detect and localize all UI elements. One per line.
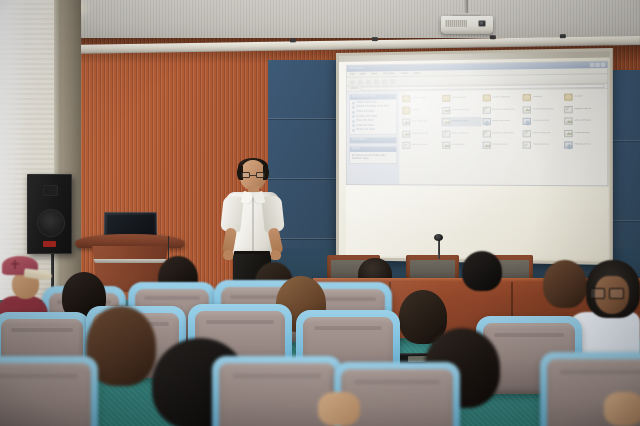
file-item-label: Feedback Form [574,144,591,147]
back-icon[interactable] [350,79,355,84]
gooseneck-microphone [434,234,443,241]
window-controls [590,63,605,67]
doc-icon [442,130,450,137]
projector-lens-icon [478,20,486,27]
file-item[interactable]: Summary Notes.doc [481,129,522,138]
menu-view[interactable]: View [371,72,377,75]
file-item[interactable]: Feedback Form [563,140,605,149]
ceiling-texture [0,0,640,42]
microphone-stem [438,239,440,259]
pa-speaker [27,174,72,254]
explorer-body: File and Folder Tasks Make a new folder … [347,89,607,186]
folders-icon[interactable] [382,79,387,84]
app-icon [564,141,573,148]
task-link[interactable]: Copy this folder [352,124,394,127]
folder-icon [523,94,531,101]
task-link[interactable]: Share this folder [352,110,394,113]
explorer-title: File Explorer [349,67,364,70]
file-item[interactable]: Intro Slides.ppt [401,117,441,126]
menu-edit[interactable]: Edit [360,73,365,76]
task-link-label: Delete this folder [356,129,375,132]
ceiling [0,0,640,42]
file-item[interactable]: Final Draft.ppt [563,128,605,138]
task-link[interactable]: Publish this folder to the Web [352,106,394,109]
speaker-woofer-icon [37,209,65,237]
close-icon[interactable] [601,63,605,67]
glasses-lens-left [241,172,250,178]
lectern-trim-band [92,259,168,263]
address-label: Address [350,88,359,91]
laptop-screen [107,215,154,234]
file-item[interactable]: Reference List [481,140,522,149]
file-item-label: Summary Notes.doc [492,132,514,135]
doc-icon [402,142,410,149]
task-link-label: Make a new folder [356,101,377,104]
forward-icon[interactable] [358,79,363,84]
app-icon [523,118,531,125]
task-section-other-places: Other Places [349,136,397,143]
file-item-label: Lecture Notes [412,97,427,100]
image-icon [402,130,410,137]
glasses-icon [590,288,624,299]
file-item-label: Project Brief.ppt [412,132,429,135]
bullet-icon [352,101,355,104]
image-icon [564,117,573,124]
image-icon [442,118,450,125]
glasses-lens-right [609,288,624,299]
folder-icon [402,95,410,102]
attendee-arm [318,392,360,426]
glasses-lens-left [590,288,605,299]
image-icon [442,142,450,149]
wall-pillar [61,0,81,302]
file-item-label: Appendix A.doc [412,144,428,147]
glasses-lens-right [256,172,265,178]
file-item-label: Budget Plan.xls [574,107,591,110]
screen-empty-area [346,185,609,260]
doc-icon [523,142,531,149]
file-item[interactable]: Project Brief.ppt [401,129,441,138]
explorer-task-pane: File and Folder Tasks Make a new folder … [347,91,399,186]
file-item[interactable]: Photos [401,106,441,115]
file-item[interactable]: Presentations [441,93,481,103]
bullet-icon [352,115,355,118]
file-item[interactable]: Workshop Report.doc [481,105,522,115]
speaker-tweeter-icon [43,185,58,196]
folder-icon [482,94,490,101]
doc-icon [482,130,490,137]
task-section-file-folder: File and Folder Tasks Make a new folder … [349,93,397,134]
file-item-label: Research [533,96,543,99]
file-item[interactable]: Appendix A.doc [401,141,441,150]
seat-pad [219,363,335,426]
file-item-label: Reference List [492,144,508,147]
file-item-label: Photos [412,109,419,112]
file-item[interactable]: Training Kit.exe [522,116,563,126]
task-link[interactable]: Delete this folder [352,129,394,132]
file-item[interactable]: Setup Guide.exe [481,117,522,127]
search-icon[interactable] [374,79,379,84]
folder-icon [564,93,573,100]
file-item[interactable]: Overview Chart [441,117,481,126]
task-links: Make a new folder Publish this folder to… [350,99,396,133]
file-item[interactable]: Field Survey.doc [441,129,481,138]
app-icon [482,118,490,125]
file-item-label: Workshop Report.doc [492,108,515,111]
file-item-label: Field Survey.doc [451,132,469,135]
file-item[interactable]: Attendance.xls [522,140,563,149]
task-link-label: Share this folder [356,111,374,114]
lecture-hall-photo: File Explorer File Edit View Favorites T… [0,0,640,426]
attendee-head [543,260,587,308]
doc-icon [523,130,531,137]
file-item[interactable]: Annual Meeting.ppt [522,105,563,115]
file-item[interactable]: Team Roster.xls [522,128,563,137]
projector-body-lower [443,29,491,34]
presenter-hand-right [270,250,281,260]
seat-pad [0,363,91,426]
file-item[interactable]: Course Materials [481,93,522,103]
task-link[interactable]: Move this folder [352,120,394,123]
task-link-label: Copy this folder [356,125,373,128]
task-section-details: Details My Documents File Folder Date Mo… [349,145,397,163]
file-item-label: Overview Chart [451,120,467,123]
file-item-label: Annual Meeting.ppt [533,108,554,111]
image-icon [564,129,573,136]
task-link[interactable]: Make a new folder [352,101,394,104]
glasses-icon [241,172,265,178]
up-icon[interactable] [366,79,371,84]
image-icon [482,142,490,149]
file-item[interactable]: Data Sheet.ppt [563,116,605,126]
file-item[interactable]: Lecture Notes [401,94,441,104]
speaker-stand [51,250,54,290]
screen-surface: File Explorer File Edit View Favorites T… [339,51,610,262]
audience-seat[interactable] [0,356,98,426]
presenter-shirt-placket [252,198,254,252]
task-link[interactable]: Rename this folder [352,115,394,118]
file-item-label: Intro Slides.ppt [412,120,428,123]
menu-file[interactable]: File [350,73,355,76]
file-item-label: Presentations [451,97,466,100]
file-item-label: Team Roster.xls [533,132,550,135]
projector-vent [445,20,467,27]
views-icon[interactable] [390,79,395,84]
image-icon [523,106,531,113]
attendee-arm [604,392,640,426]
speaker-brand-badge [43,241,56,247]
task-link-label: Move this folder [356,120,374,123]
doc-icon [564,105,573,112]
task-link-label: Publish this folder to the Web [356,106,389,109]
file-item-label: Schedule.ppt [451,144,465,147]
menu-favorites[interactable]: Favorites [383,72,395,75]
file-item-label: Data Sheet.ppt [574,119,591,122]
file-item-label: Setup Guide.exe [492,120,510,123]
task-section-heading: Other Places [350,137,396,142]
file-item[interactable]: Research [522,93,563,103]
menu-tools[interactable]: Tools [401,72,408,75]
bullet-icon [352,111,355,114]
file-item[interactable]: Schedule.ppt [441,141,481,150]
attendee-head [462,251,502,291]
bullet-icon [352,120,355,123]
file-item-label: Course Materials [492,96,510,99]
folder-icon [442,95,450,102]
explorer-file-grid[interactable]: Lecture NotesPresentationsCourse Materia… [399,89,607,186]
image-icon [442,107,450,114]
minimize-icon[interactable] [590,63,594,67]
bullet-icon [352,106,355,109]
projected-explorer-window: File Explorer File Edit View Favorites T… [346,61,609,187]
bullet-icon [352,124,355,127]
image-icon [402,119,410,126]
folder-icon [402,107,410,114]
task-link-label: Rename this folder [356,115,377,118]
file-item[interactable]: Budget Plan.xls [563,104,605,114]
ceiling-projector [441,16,493,33]
file-item-label: Attendance.xls [533,144,549,147]
doc-icon [482,106,490,113]
blind-edge [54,0,61,305]
file-item-label: Archive [574,96,582,99]
projection-screen: File Explorer File Edit View Favorites T… [336,48,613,265]
details-body: My Documents File Folder Date Modified: … [350,152,396,163]
maximize-icon[interactable] [595,63,599,67]
bullet-icon [352,129,355,132]
file-item[interactable]: Archive [563,92,605,102]
file-item[interactable]: Seminar 2014.ppt [441,105,481,115]
file-item-label: Seminar 2014.ppt [451,108,470,111]
file-item-label: Final Draft.ppt [574,131,590,134]
file-item-label: Training Kit.exe [533,120,550,123]
menu-help[interactable]: Help [414,72,420,75]
